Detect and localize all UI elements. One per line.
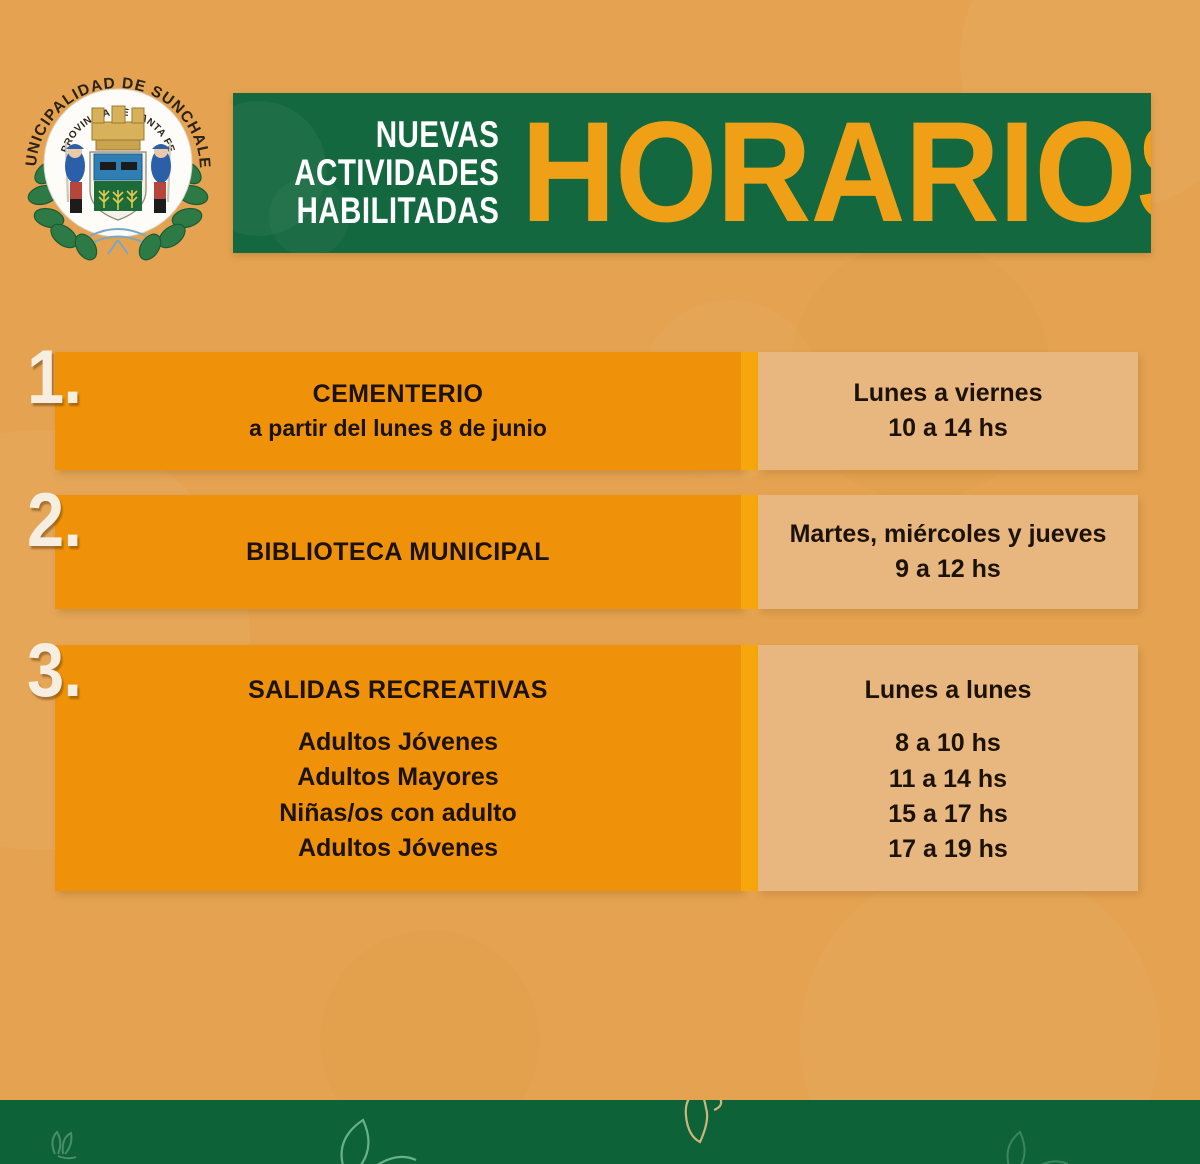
header-subtitle-line1: NUEVAS	[294, 116, 499, 154]
schedule-time: 8 a 10 hs	[888, 728, 1008, 759]
activity-title: BIBLIOTECA MUNICIPAL	[246, 537, 550, 567]
row-number: 1.	[27, 340, 81, 416]
header-subtitle: NUEVAS ACTIVIDADES HABILITADAS	[294, 116, 499, 229]
activity-item: Adultos Mayores	[279, 762, 517, 793]
schedule-row: 2. BIBLIOTECA MUNICIPAL Martes, miércole…	[0, 495, 1200, 609]
schedule-days: Lunes a viernes	[854, 378, 1043, 409]
panel-divider	[741, 495, 758, 609]
panel-divider	[741, 645, 758, 891]
schedule-time: 10 a 14 hs	[888, 413, 1008, 444]
header-subtitle-line3: HABILITADAS	[294, 192, 499, 230]
footer-leaf-decoration	[0, 1100, 1200, 1164]
schedule-time: 17 a 19 hs	[888, 834, 1008, 865]
schedule-days: Lunes a lunes	[865, 675, 1032, 706]
schedule-row: 3. SALIDAS RECREATIVAS Adultos Jóvenes A…	[0, 645, 1200, 891]
schedule-row: 1. CEMENTERIO a partir del lunes 8 de ju…	[0, 352, 1200, 470]
schedule-time: 15 a 17 hs	[888, 799, 1008, 830]
municipality-logo: MUNICIPALIDAD DE SUNCHALES PROVINCIA DE …	[18, 50, 218, 265]
activity-title: SALIDAS RECREATIVAS	[248, 675, 548, 705]
row-number: 2.	[27, 483, 81, 559]
activity-subtitle: a partir del lunes 8 de junio	[249, 414, 547, 443]
activity-item: Adultos Jóvenes	[279, 833, 517, 864]
schedule-time: 9 a 12 hs	[895, 554, 1001, 585]
panel-divider	[741, 352, 758, 470]
activity-item-list: Adultos Jóvenes Adultos Mayores Niñas/os…	[279, 727, 517, 864]
schedule-time-list: 8 a 10 hs 11 a 14 hs 15 a 17 hs 17 a 19 …	[888, 728, 1008, 865]
page-title: HORARIOS	[521, 112, 1151, 235]
schedule-panel: Lunes a lunes 8 a 10 hs 11 a 14 hs 15 a …	[758, 645, 1138, 891]
row-number: 3.	[27, 633, 81, 709]
header-banner: NUEVAS ACTIVIDADES HABILITADAS HORARIOS	[233, 93, 1151, 253]
schedule-panel: Martes, miércoles y jueves 9 a 12 hs	[758, 495, 1138, 609]
schedule-time: 11 a 14 hs	[888, 764, 1008, 795]
activity-panel: BIBLIOTECA MUNICIPAL	[55, 495, 741, 609]
activity-panel: SALIDAS RECREATIVAS Adultos Jóvenes Adul…	[55, 645, 741, 891]
activity-item: Niñas/os con adulto	[279, 798, 517, 829]
header-subtitle-line2: ACTIVIDADES	[294, 154, 499, 192]
activity-title: CEMENTERIO	[313, 379, 484, 409]
crown-icon	[92, 106, 144, 150]
activity-item: Adultos Jóvenes	[279, 727, 517, 758]
schedule-panel: Lunes a viernes 10 a 14 hs	[758, 352, 1138, 470]
footer-band	[0, 1100, 1200, 1164]
activity-panel: CEMENTERIO a partir del lunes 8 de junio	[55, 352, 741, 470]
schedule-days: Martes, miércoles y jueves	[790, 519, 1107, 550]
